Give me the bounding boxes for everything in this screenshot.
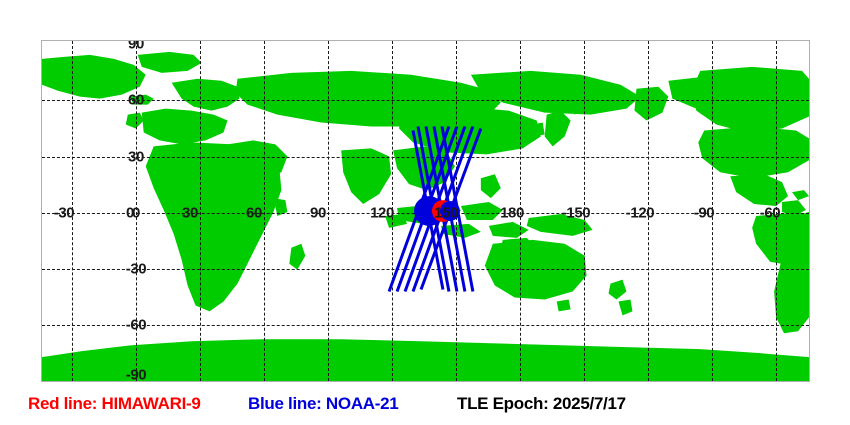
lat-label-neg90: -90 <box>126 367 146 383</box>
world-map: 90 60 30 0 -30 -60 -90 -30 0 30 60 90 12… <box>41 40 810 382</box>
lon-label-90: 90 <box>310 205 326 222</box>
lat-label-30: 30 <box>128 149 144 166</box>
legend-bar: Red line: HIMAWARI-9 Blue line: NOAA-21 … <box>0 393 850 425</box>
legend-red-line: Red line: HIMAWARI-9 <box>28 394 201 414</box>
lon-label-30: 30 <box>182 205 198 222</box>
lon-label-neg30: -30 <box>54 205 74 222</box>
lon-label-neg120: -120 <box>626 205 654 222</box>
legend-blue-line: Blue line: NOAA-21 <box>248 394 398 414</box>
lon-label-0: 0 <box>126 205 134 222</box>
lat-label-neg60: -60 <box>126 317 146 334</box>
lon-label-120: 120 <box>370 205 394 222</box>
lat-label-60: 60 <box>128 92 144 109</box>
legend-tle-epoch: TLE Epoch: 2025/7/17 <box>457 394 626 414</box>
lon-label-150: 150 <box>434 205 458 222</box>
lon-label-neg150: -150 <box>562 205 590 222</box>
lon-label-180: 180 <box>500 205 524 222</box>
lat-label-neg30: -30 <box>126 261 146 278</box>
lat-label-90: 90 <box>128 40 144 53</box>
lon-label-neg90: -90 <box>694 205 714 222</box>
lon-label-neg60: -60 <box>760 205 780 222</box>
lon-label-60: 60 <box>246 205 262 222</box>
